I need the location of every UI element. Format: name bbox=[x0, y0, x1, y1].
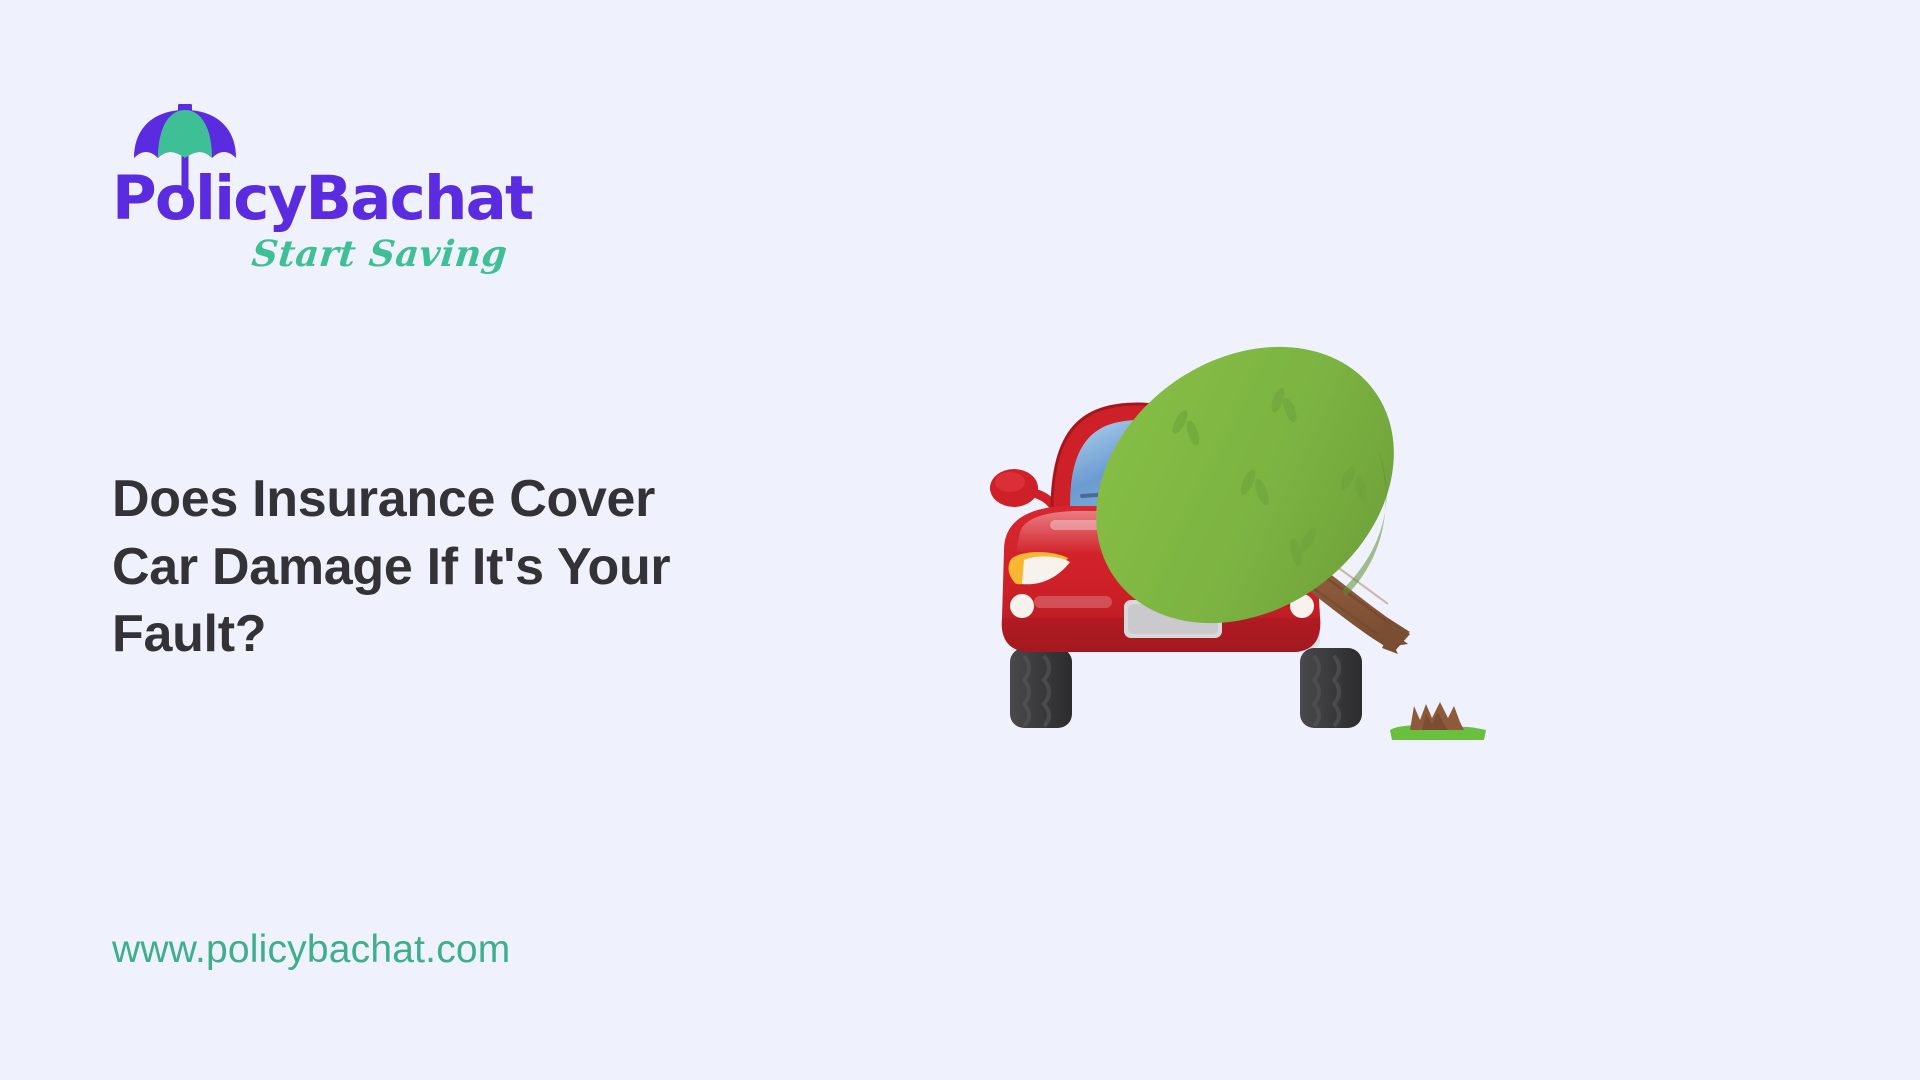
banner-canvas: PolicyBachat Start Saving Does Insurance… bbox=[0, 0, 1920, 1080]
website-url[interactable]: www.policybachat.com bbox=[112, 930, 511, 969]
brand-tagline: Start Saving bbox=[250, 236, 509, 272]
brand-logo[interactable]: PolicyBachat Start Saving bbox=[112, 96, 532, 306]
car-side-mirror bbox=[990, 469, 1054, 507]
headline-line-1: Does Insurance Cover bbox=[112, 466, 872, 534]
car-damaged-by-fallen-tree-illustration bbox=[990, 300, 1650, 750]
brand-wordmark: PolicyBachat bbox=[112, 168, 532, 229]
headline-line-2: Car Damage If It's Your bbox=[112, 534, 872, 602]
car-tires bbox=[1010, 648, 1362, 728]
headline-line-3: Fault? bbox=[112, 601, 872, 669]
page-title: Does Insurance Cover Car Damage If It's … bbox=[112, 466, 872, 669]
tree-stump-and-grass bbox=[1390, 702, 1486, 740]
